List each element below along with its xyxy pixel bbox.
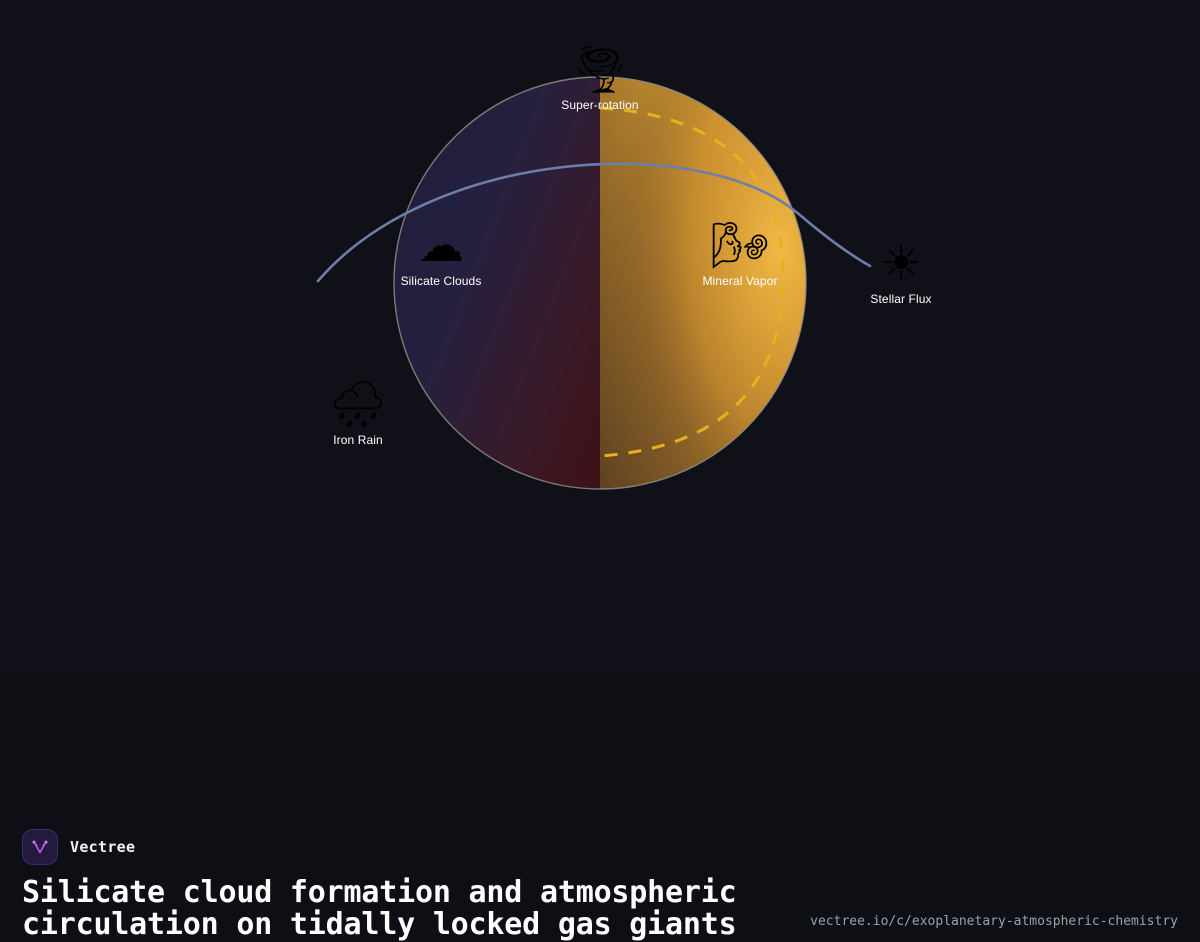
brand[interactable]: Vectree: [22, 829, 135, 865]
tornado-icon: 🌪: [520, 46, 680, 92]
node-label-silicate-clouds: Silicate Clouds: [361, 274, 521, 288]
wind-vapor-icon: 🌬: [660, 222, 820, 268]
node-silicate-clouds[interactable]: ☁ Silicate Clouds: [361, 222, 521, 288]
page-title: Silicate cloud formation and atmospheric…: [22, 877, 822, 941]
brand-name: Vectree: [70, 838, 135, 856]
node-label-stellar-flux: Stellar Flux: [821, 292, 981, 306]
cloud-icon: ☁: [361, 222, 521, 268]
footer: Vectree Silicate cloud formation and atm…: [0, 497, 1200, 675]
node-label-iron-rain: Iron Rain: [278, 433, 438, 447]
planet-diagram: 🌪 Super-rotation ☁ Silicate Clouds 🌬 Min…: [0, 0, 1200, 500]
node-label-mineral-vapor: Mineral Vapor: [660, 274, 820, 288]
node-label-super-rotation: Super-rotation: [520, 98, 680, 112]
vectree-logo-icon: [22, 829, 58, 865]
rain-cloud-icon: 🌧: [278, 381, 438, 427]
node-iron-rain[interactable]: 🌧 Iron Rain: [278, 381, 438, 447]
node-super-rotation[interactable]: 🌪 Super-rotation: [520, 46, 680, 112]
node-mineral-vapor[interactable]: 🌬 Mineral Vapor: [660, 222, 820, 288]
source-url: vectree.io/c/exoplanetary-atmospheric-ch…: [810, 914, 1178, 929]
slide-canvas: 🌪 Super-rotation ☁ Silicate Clouds 🌬 Min…: [0, 0, 1200, 675]
sun-icon: ☀: [821, 240, 981, 286]
node-stellar-flux[interactable]: ☀ Stellar Flux: [821, 240, 981, 306]
